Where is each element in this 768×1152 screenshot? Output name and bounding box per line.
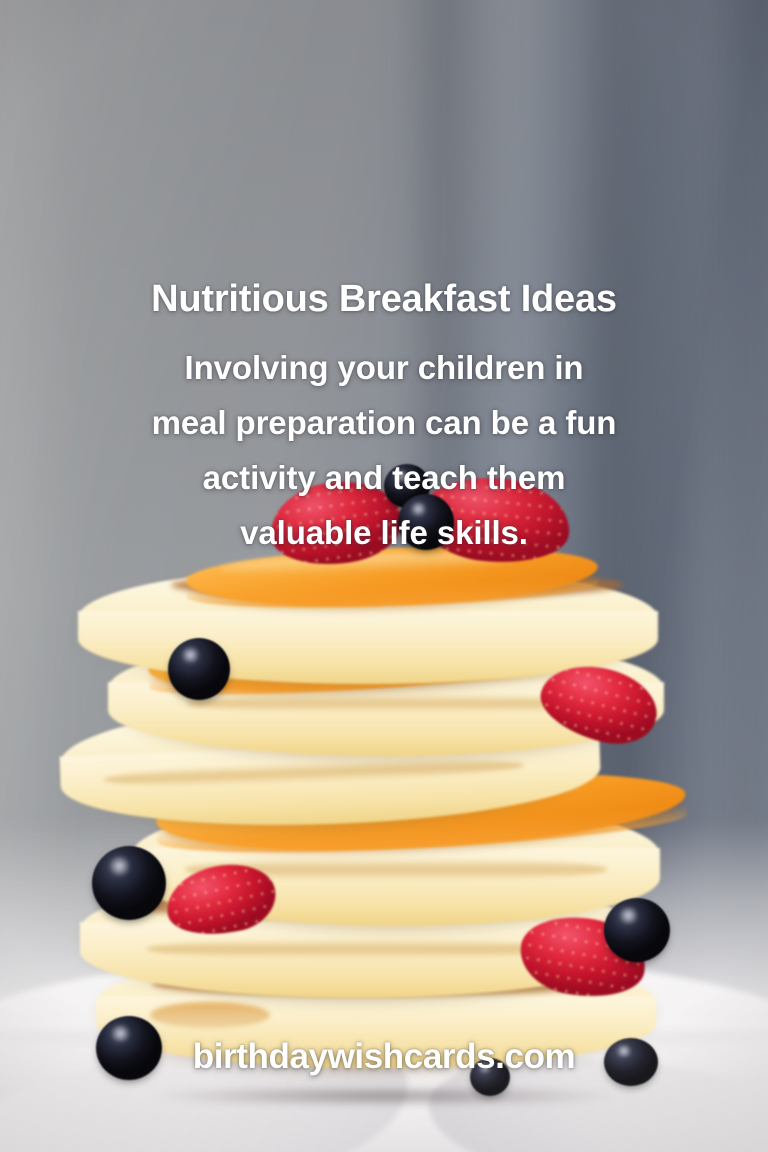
site-watermark: birthdaywishcards.com [0, 1036, 768, 1078]
body-line-3: activity and teach them [60, 450, 708, 505]
body-line-1: Involving your children in [60, 340, 708, 395]
pin-card: Nutritious Breakfast Ideas Involving you… [0, 0, 768, 1152]
body-line-4: valuable life skills. [60, 505, 708, 560]
text-layer: Nutritious Breakfast Ideas Involving you… [0, 0, 768, 1152]
page-title: Nutritious Breakfast Ideas [0, 277, 768, 321]
body-line-2: meal preparation can be a fun [60, 395, 708, 450]
body-text: Involving your children in meal preparat… [60, 340, 708, 560]
